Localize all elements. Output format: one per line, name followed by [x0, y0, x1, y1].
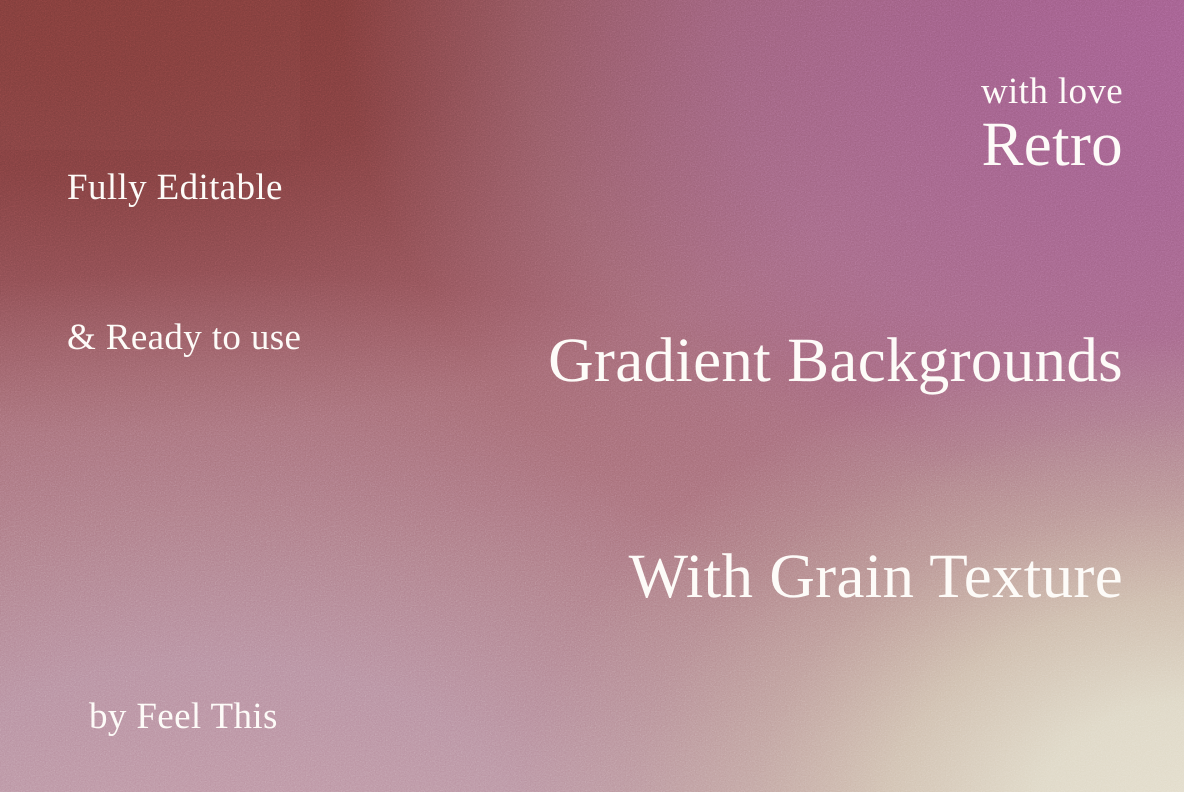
tagline-line-2: & Ready to use — [67, 313, 301, 363]
headline-text: Retro Gradient Backgrounds With Grain Te… — [548, 0, 1123, 756]
tagline-text: Fully Editable & Ready to use — [67, 63, 301, 463]
headline-line-1: Retro — [548, 108, 1123, 180]
tagline-line-1: Fully Editable — [67, 163, 301, 213]
headline-line-3: With Grain Texture — [548, 540, 1123, 612]
poster-canvas: Fully Editable & Ready to use with love … — [0, 0, 1184, 792]
headline-line-2: Gradient Backgrounds — [548, 324, 1123, 396]
byline-text: by Feel This — [89, 695, 278, 739]
